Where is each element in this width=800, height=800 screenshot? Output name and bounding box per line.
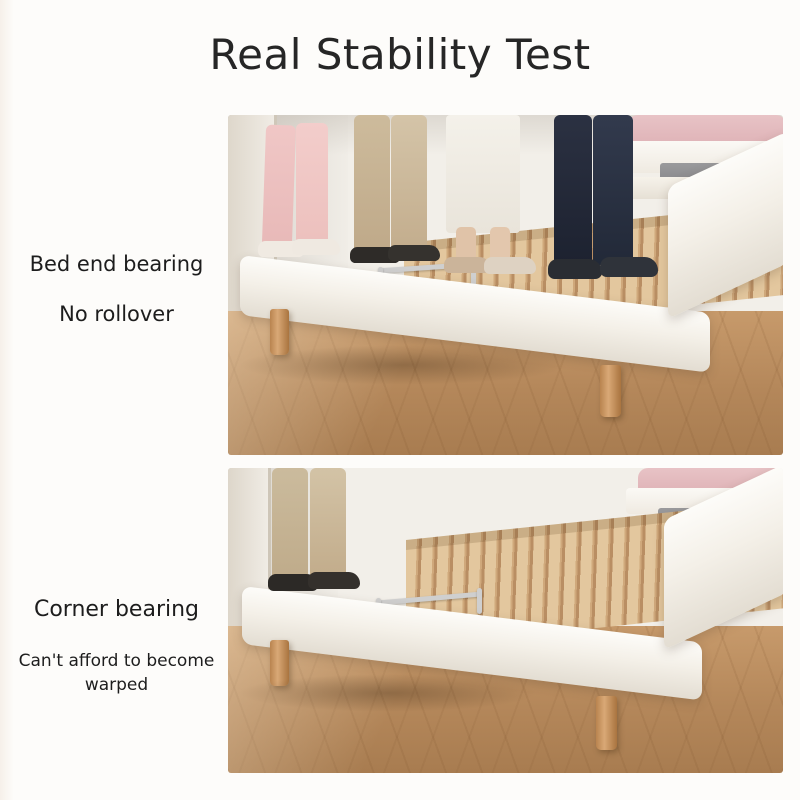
person-shoe-right (308, 572, 360, 589)
person2-pant-right (391, 115, 427, 251)
page-title: Real Stability Test (0, 30, 800, 79)
bed-leg-front-right-b (596, 696, 617, 750)
person3-leg-right (490, 227, 510, 261)
bed-leg-front-right (600, 365, 621, 417)
person2-pant-left (354, 115, 390, 253)
person4-shoe-left (548, 259, 602, 279)
person4-pant-left (554, 115, 592, 263)
bed-end-bearing-photo (228, 115, 783, 455)
caption-top-line1: Bed end bearing (14, 250, 219, 278)
floor-shadow-top (238, 345, 568, 385)
person4-shoe-right (600, 257, 658, 277)
caption-bottom-line1: Corner bearing (14, 595, 219, 625)
person1-pant-left (262, 125, 296, 246)
poster-root: Real Stability Test (0, 0, 800, 800)
person2-shoe-right (388, 245, 440, 261)
person3-leg-left (456, 227, 476, 261)
bed-leg-front-left (270, 309, 289, 355)
person-pant-right (310, 468, 346, 578)
person3-slipper-right (484, 257, 536, 274)
floor-shadow-bottom (238, 674, 538, 712)
caption-bottom-line2: Can't afford to become warped (14, 650, 219, 698)
person1-shoe-right (292, 239, 340, 255)
corner-bearing-photo (228, 468, 783, 773)
person1-pant-right (296, 123, 328, 247)
person3-skirt (446, 115, 520, 233)
caption-top-line2: No rollover (14, 300, 219, 328)
person4-pant-right (593, 115, 633, 265)
person-pant-left (272, 468, 308, 580)
center-support-leg-right-b (477, 588, 482, 614)
